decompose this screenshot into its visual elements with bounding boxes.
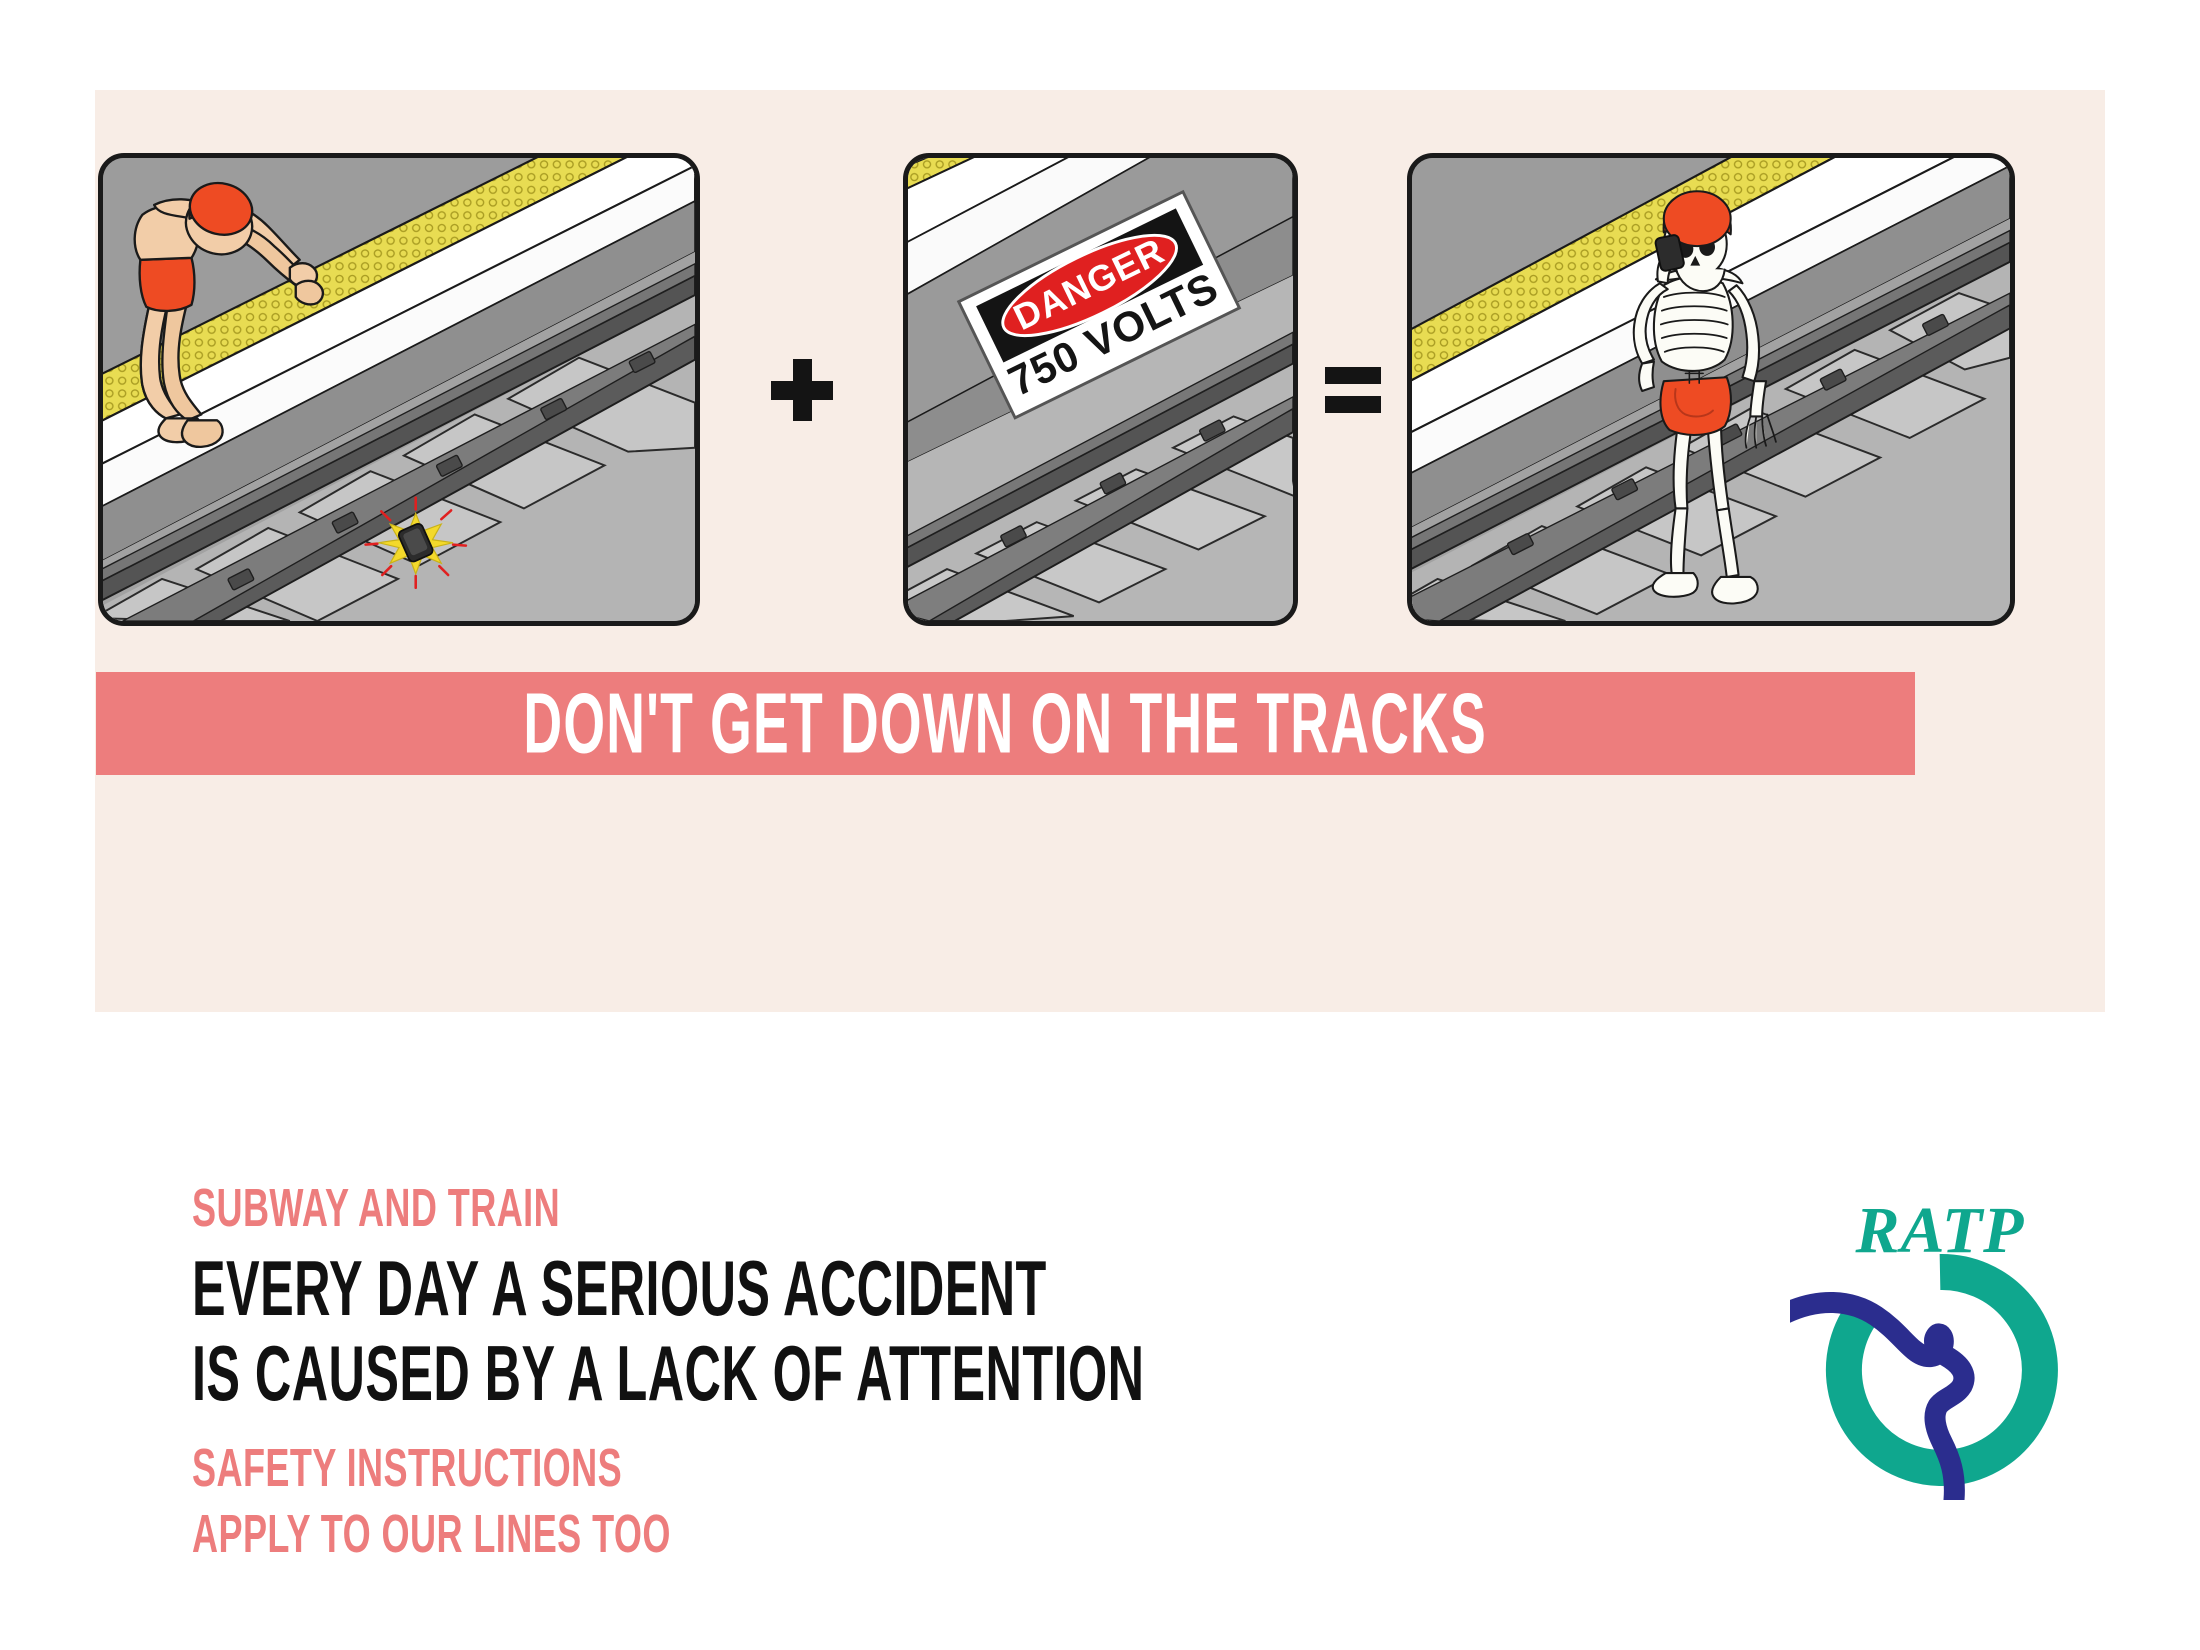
operator-plus — [700, 153, 903, 626]
equals-icon — [1325, 367, 1381, 413]
panel-equation-row: DANGER 750 VOLTS — [98, 153, 1915, 626]
copy-subline-1: SAFETY INSTRUCTIONS — [192, 1439, 1135, 1500]
ratp-logo: RATP — [1790, 1190, 2090, 1500]
panel-person-reaching-for-dropped-phone — [98, 153, 700, 626]
banner-text: DON'T GET DOWN ON THE TRACKS — [524, 674, 1487, 773]
panel-skeleton-on-tracks — [1407, 153, 2015, 626]
panel-danger-voltage-sign: DANGER 750 VOLTS — [903, 153, 1298, 626]
panel-1-illustration — [103, 158, 695, 621]
copy-kicker: SUBWAY AND TRAIN — [192, 1179, 1135, 1240]
plus-icon — [771, 359, 833, 421]
copy-headline-line-2: IS CAUSED BY A LACK OF ATTENTION — [192, 1329, 1158, 1419]
main-warning-banner: DON'T GET DOWN ON THE TRACKS — [96, 672, 1915, 775]
copy-subline-2: APPLY TO OUR LINES TOO — [192, 1505, 1135, 1566]
operator-equals — [1298, 153, 1407, 626]
campaign-copy-block: SUBWAY AND TRAIN EVERY DAY A SERIOUS ACC… — [192, 1184, 1342, 1560]
panel-3-illustration — [1412, 158, 2010, 621]
copy-headline-line-1: EVERY DAY A SERIOUS ACCIDENT — [192, 1244, 1158, 1334]
panel-2-illustration: DANGER 750 VOLTS — [908, 158, 1293, 621]
